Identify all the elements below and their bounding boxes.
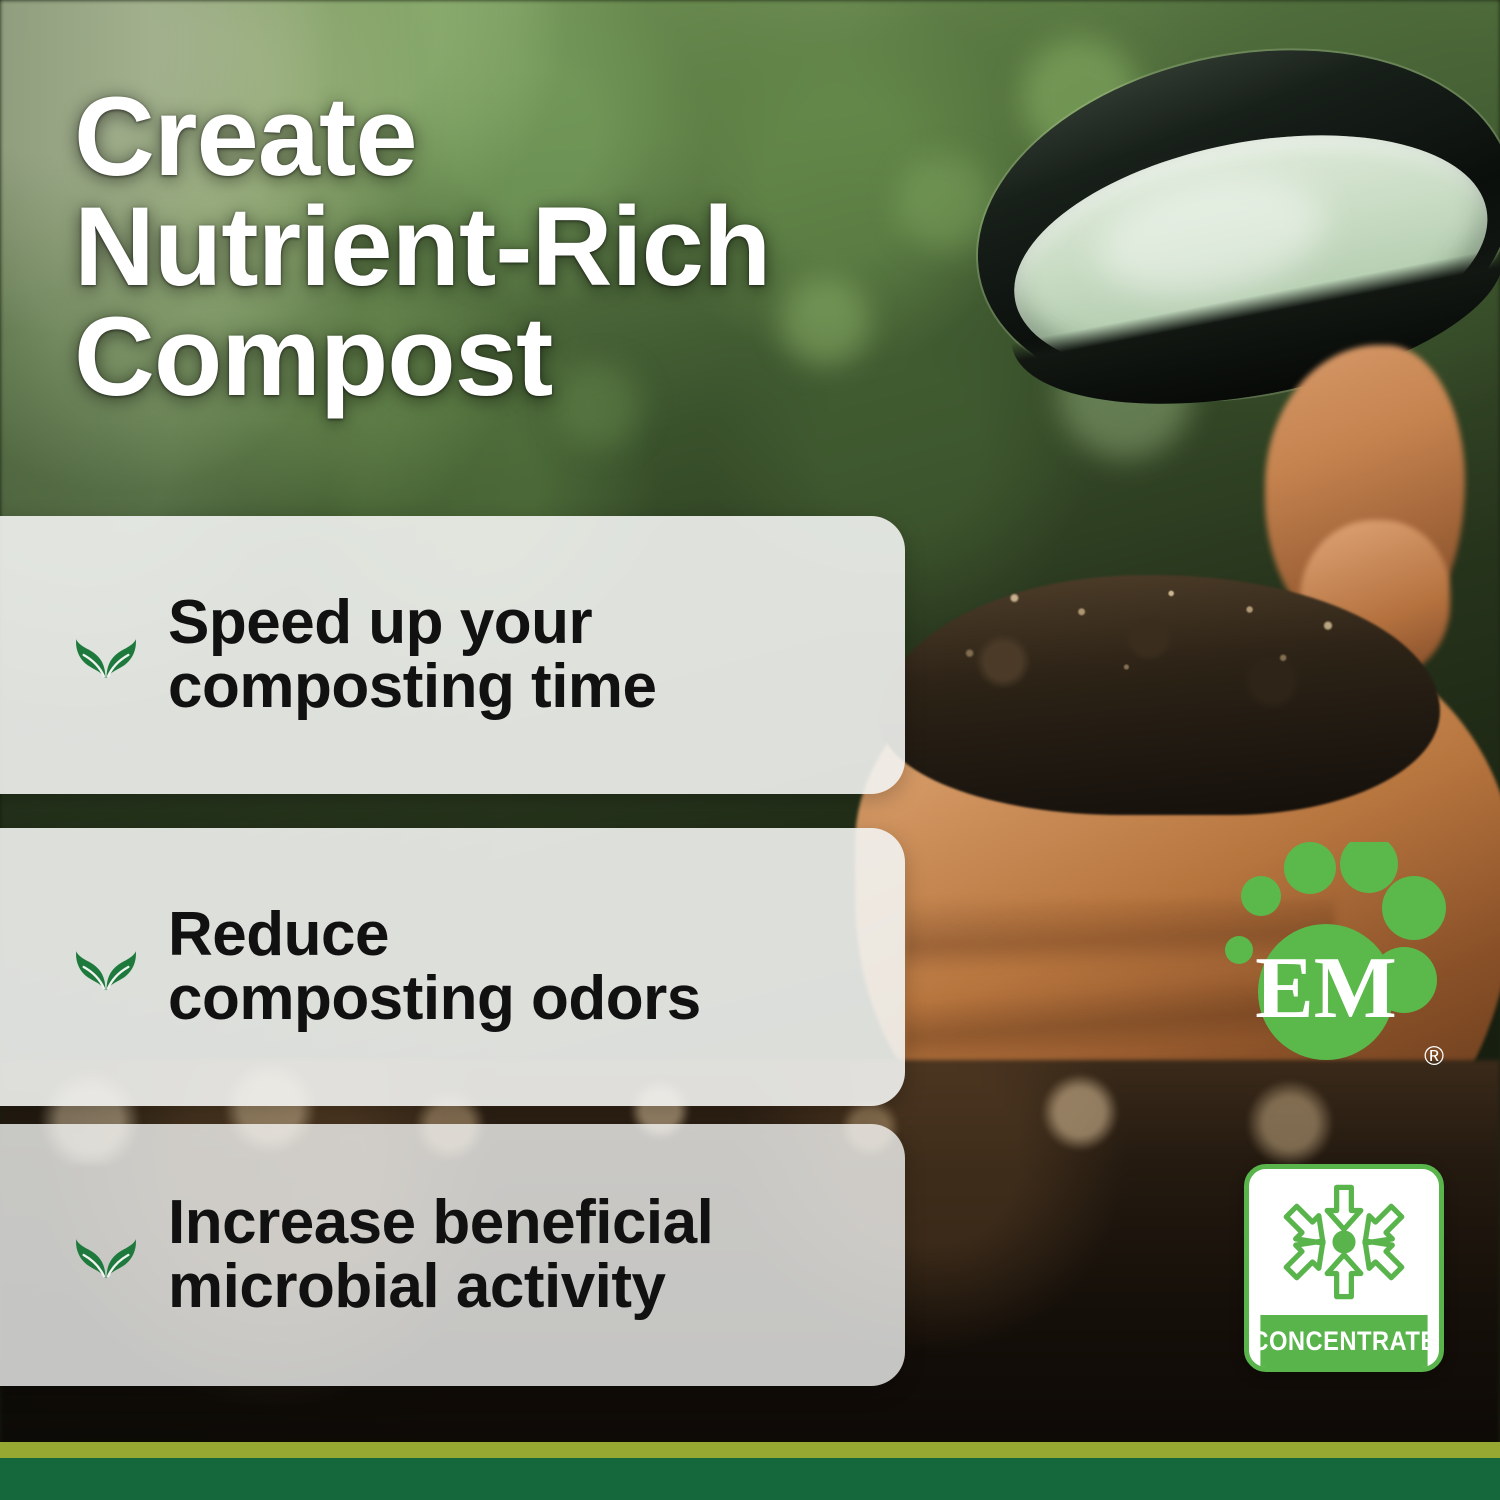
concentrate-badge: CONCENTRATE <box>1244 1164 1444 1372</box>
page-title: Create Nutrient-Rich Compost <box>74 82 974 411</box>
em-brand-logo: EM ® <box>1218 842 1450 1074</box>
leaf-icon <box>70 619 142 691</box>
leaf-icon <box>70 931 142 1003</box>
product-feature-poster: Create Nutrient-Rich Compost Speed up yo… <box>0 0 1500 1500</box>
green-footer-bar <box>0 1458 1500 1500</box>
svg-text:EM: EM <box>1255 940 1397 1037</box>
leaf-icon <box>70 1219 142 1291</box>
benefit-card: Increase beneficial microbial activity <box>0 1124 905 1386</box>
benefit-card: Reduce composting odors <box>0 828 905 1106</box>
benefit-text: Speed up your composting time <box>168 591 657 720</box>
benefit-text: Increase beneficial microbial activity <box>168 1191 713 1320</box>
concentrate-label: CONCENTRATE <box>1260 1315 1427 1367</box>
registered-trademark-icon: ® <box>1424 1043 1444 1070</box>
olive-accent-bar <box>0 1442 1500 1458</box>
benefit-card: Speed up your composting time <box>0 516 905 794</box>
benefit-text: Reduce composting odors <box>168 903 701 1032</box>
converging-arrows-icon <box>1249 1169 1439 1315</box>
